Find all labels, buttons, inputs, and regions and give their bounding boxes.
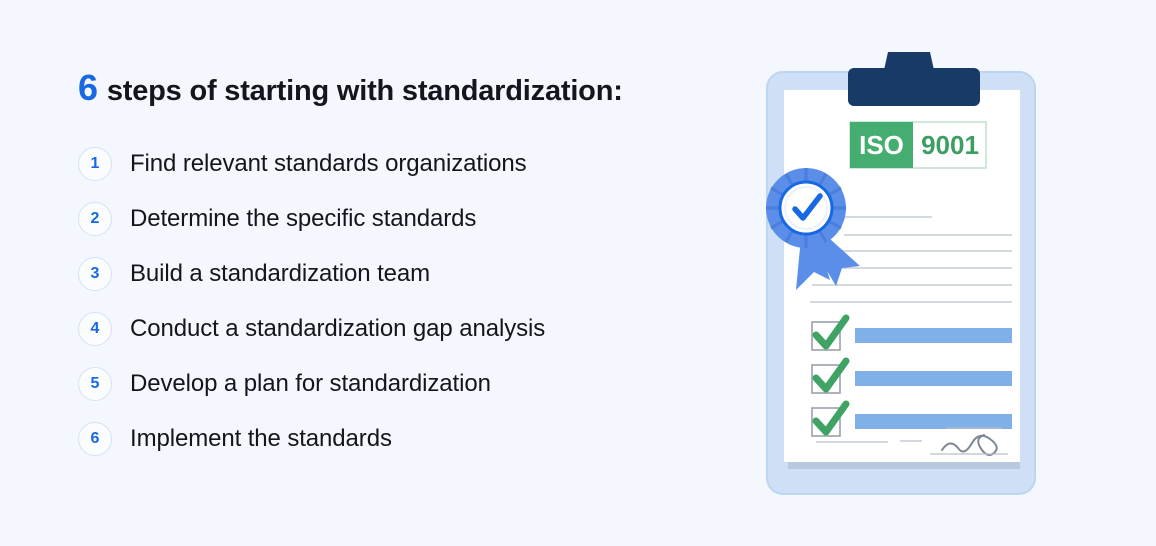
step-number-badge: 5 [78,367,112,401]
clipboard-clip-tab [884,52,934,70]
step-number-badge: 6 [78,422,112,456]
steps-column: 6 steps of starting with standardization… [78,70,718,466]
list-item: 6 Implement the standards [78,411,718,466]
step-number-badge: 4 [78,312,112,346]
list-item: 4 Conduct a standardization gap analysis [78,301,718,356]
step-label: Conduct a standardization gap analysis [130,315,545,343]
step-number-badge: 1 [78,147,112,181]
checklist-bar [855,414,1012,429]
step-number-badge: 2 [78,202,112,236]
step-label: Implement the standards [130,425,392,453]
checklist-bar [855,371,1012,386]
steps-list: 1 Find relevant standards organizations … [78,136,718,466]
iso-9001-badge: ISO 9001 [850,122,986,168]
step-label: Build a standardization team [130,260,430,288]
list-item: 2 Determine the specific standards [78,191,718,246]
page-title: 6 steps of starting with standardization… [78,70,718,106]
step-label: Determine the specific standards [130,205,476,233]
infographic-canvas: 6 steps of starting with standardization… [0,0,1156,546]
clipboard-clip [848,68,980,106]
iso-badge-right-text: 9001 [921,130,979,160]
checklist-bar [855,328,1012,343]
step-label: Find relevant standards organizations [130,150,527,178]
iso-badge-left-text: ISO [859,130,904,160]
rosette-inner-disc [780,182,832,234]
list-item: 1 Find relevant standards organizations [78,136,718,191]
heading-count: 6 [78,70,98,106]
step-number-badge: 3 [78,257,112,291]
step-label: Develop a plan for standardization [130,370,491,398]
iso-9001-clipboard-illustration: ISO 9001 [740,50,1080,500]
list-item: 3 Build a standardization team [78,246,718,301]
list-item: 5 Develop a plan for standardization [78,356,718,411]
heading-text: steps of starting with standardization: [107,77,623,106]
